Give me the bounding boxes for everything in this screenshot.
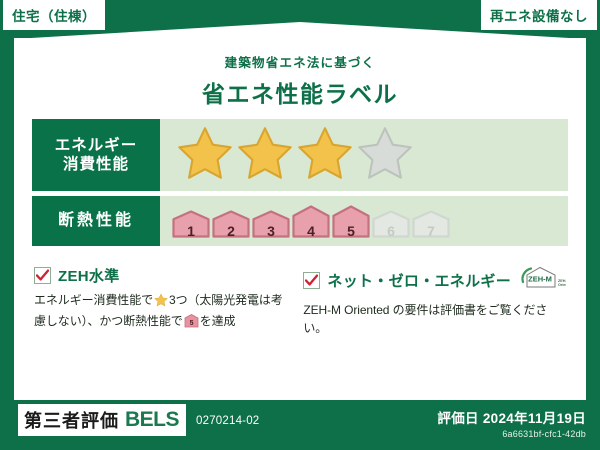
net-zero-energy-title: ネット・ゼロ・エネルギー (327, 270, 511, 291)
zeh-desc-part3: を達成 (200, 314, 236, 328)
svg-text:Oriented: Oriented (558, 283, 566, 287)
title-main: 省エネ性能ラベル (14, 75, 586, 109)
bels-logo-text: BELS (125, 408, 179, 432)
energy-label-line2: 消費性能 (63, 156, 129, 173)
claims-section: ZEH水準 エネルギー消費性能で 3つ（太陽光発電は考慮しない）、かつ断熱性能で… (14, 251, 586, 337)
inline-house-badge-icon: 5 (184, 314, 199, 333)
evaluation-info: 評価日 2024年11月19日 6a6631bf-cfc1-42db (437, 407, 586, 439)
evaluation-date: 評価日 2024年11月19日 (437, 407, 586, 427)
energy-performance-row: エネルギー 消費性能 (32, 119, 568, 191)
energy-performance-label-card: 住宅（住棟） 再エネ設備なし 建築物省エネ法に基づく 省エネ性能ラベル エネルギ… (0, 0, 600, 450)
insulation-level-badge: 5 (332, 205, 370, 243)
star-filled-icon (176, 125, 234, 186)
energy-label-line1: エネルギー (55, 137, 138, 154)
insulation-level-badge: 2 (212, 210, 250, 243)
zeh-standard-description: エネルギー消費性能で 3つ（太陽光発電は考慮しない）、かつ断熱性能で 5 を達成 (34, 291, 289, 333)
svg-text:ZEH-M: ZEH-M (558, 279, 566, 283)
zeh-m-logo-icon: ZEH-M ZEH-M Oriented (520, 265, 566, 296)
title-subtitle: 建築物省エネ法に基づく (14, 52, 586, 71)
net-zero-energy-checkbox[interactable] (303, 272, 320, 289)
inline-star-icon (154, 293, 168, 312)
label-body-panel: 建築物省エネ法に基づく 省エネ性能ラベル エネルギー 消費性能 断熱性能 123… (14, 38, 586, 400)
energy-performance-label: エネルギー 消費性能 (32, 119, 160, 191)
chevron-notch-icon (14, 22, 586, 39)
bels-plate: 第三者評価 BELS (14, 404, 186, 436)
insulation-level-badge: 4 (292, 205, 330, 243)
label-footer: 第三者評価 BELS 0270214-02 評価日 2024年11月19日 6a… (0, 400, 600, 450)
net-zero-energy-description: ZEH-M Oriented の要件は評価書をご覧ください。 (303, 301, 566, 337)
insulation-level-badge: 1 (172, 210, 210, 243)
zeh-standard-title: ZEH水準 (58, 265, 120, 286)
claim-net-zero-energy: ネット・ゼロ・エネルギー ZEH-M ZEH-M Oriented ZEH-M … (303, 265, 566, 337)
insulation-level-badge: 3 (252, 210, 290, 243)
bels-certificate-number: 0270214-02 (196, 415, 259, 427)
zeh-desc-part1: エネルギー消費性能で (34, 293, 153, 307)
insulation-level-badge: 6 (372, 210, 410, 243)
insulation-performance-row: 断熱性能 1234567 (32, 196, 568, 246)
insulation-performance-label: 断熱性能 (32, 196, 160, 246)
energy-star-rating (160, 119, 568, 191)
document-hash: 6a6631bf-cfc1-42db (437, 429, 586, 439)
star-filled-icon (296, 125, 354, 186)
star-filled-icon (236, 125, 294, 186)
claim-zeh-standard: ZEH水準 エネルギー消費性能で 3つ（太陽光発電は考慮しない）、かつ断熱性能で… (34, 265, 289, 337)
page-title: 建築物省エネ法に基づく 省エネ性能ラベル (14, 38, 586, 119)
insulation-level-badges: 1234567 (172, 205, 450, 243)
insulation-level-badge: 7 (412, 210, 450, 243)
zeh-standard-checkbox[interactable] (34, 267, 51, 284)
bels-japanese-label: 第三者評価 (24, 407, 119, 433)
performance-rows: エネルギー 消費性能 断熱性能 1234567 (14, 119, 586, 246)
svg-text:ZEH-M: ZEH-M (528, 275, 552, 284)
star-empty-icon (356, 125, 414, 186)
svg-text:5: 5 (189, 320, 193, 327)
